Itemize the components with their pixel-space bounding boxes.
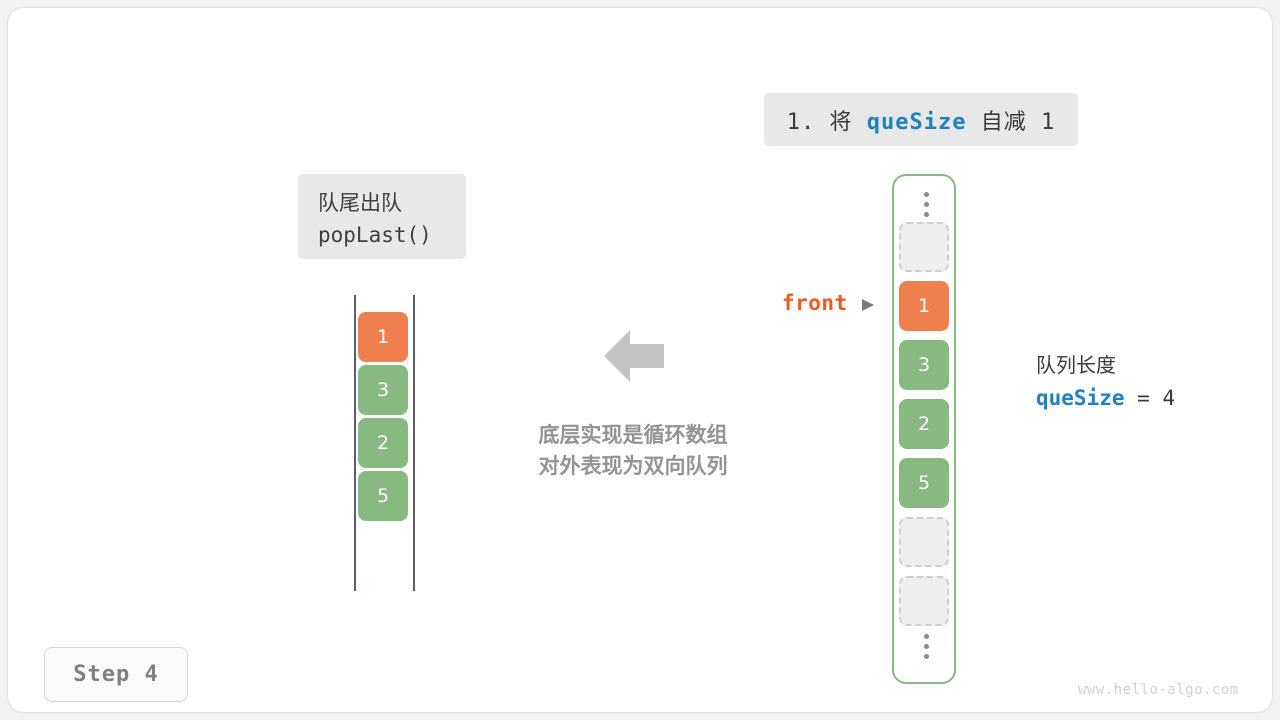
deque-cell: 3 bbox=[358, 365, 408, 415]
array-cell: 1 bbox=[899, 281, 949, 331]
figure-canvas: 1. 将 queSize 自减 1 队尾出队 popLast() 1 3 2 5… bbox=[0, 0, 1280, 720]
front-pointer-arrow-icon bbox=[862, 299, 874, 311]
title-suffix: 自减 1 bbox=[966, 110, 1055, 135]
array-cell bbox=[899, 222, 949, 272]
implementation-note-line2: 对外表现为双向队列 bbox=[511, 451, 755, 482]
deque-rail-right bbox=[413, 295, 415, 591]
title-box: 1. 将 queSize 自减 1 bbox=[764, 93, 1078, 146]
implementation-note: 底层实现是循环数组 对外表现为双向队列 bbox=[511, 420, 755, 482]
array-cell: 3 bbox=[899, 340, 949, 390]
step-badge: Step 4 bbox=[44, 647, 188, 702]
deque-rail-left bbox=[354, 295, 356, 591]
queue-size-keyword: queSize bbox=[1036, 386, 1125, 410]
operation-label-box: 队尾出队 popLast() bbox=[298, 174, 466, 259]
title-prefix: 1. 将 bbox=[787, 110, 867, 135]
queue-size-info: 队列长度 queSize = 4 bbox=[1036, 349, 1175, 410]
ellipsis-top-icon bbox=[894, 192, 958, 217]
deque-cell: 5 bbox=[358, 471, 408, 521]
title-text: 1. 将 queSize 自减 1 bbox=[787, 104, 1055, 136]
array-cell: 5 bbox=[899, 458, 949, 508]
front-pointer-label: front bbox=[782, 291, 848, 315]
array-cell bbox=[899, 576, 949, 626]
implementation-note-line1: 底层实现是循环数组 bbox=[511, 420, 755, 451]
watermark: www.hello-algo.com bbox=[1078, 682, 1239, 698]
array-cell: 2 bbox=[899, 399, 949, 449]
title-keyword: queSize bbox=[867, 110, 967, 135]
queue-size-number: = 4 bbox=[1125, 386, 1176, 410]
ellipsis-bottom-icon bbox=[894, 634, 958, 659]
transform-arrow-icon bbox=[604, 330, 664, 382]
operation-label-line1: 队尾出队 bbox=[318, 187, 466, 217]
deque-cell: 1 bbox=[358, 312, 408, 362]
figure-card: 1. 将 queSize 自减 1 队尾出队 popLast() 1 3 2 5… bbox=[8, 8, 1272, 712]
deque-cell: 2 bbox=[358, 418, 408, 468]
operation-label-line2: popLast() bbox=[318, 223, 466, 247]
queue-size-caption: 队列长度 bbox=[1036, 349, 1175, 378]
array-cell bbox=[899, 517, 949, 567]
queue-size-value: queSize = 4 bbox=[1036, 386, 1175, 410]
